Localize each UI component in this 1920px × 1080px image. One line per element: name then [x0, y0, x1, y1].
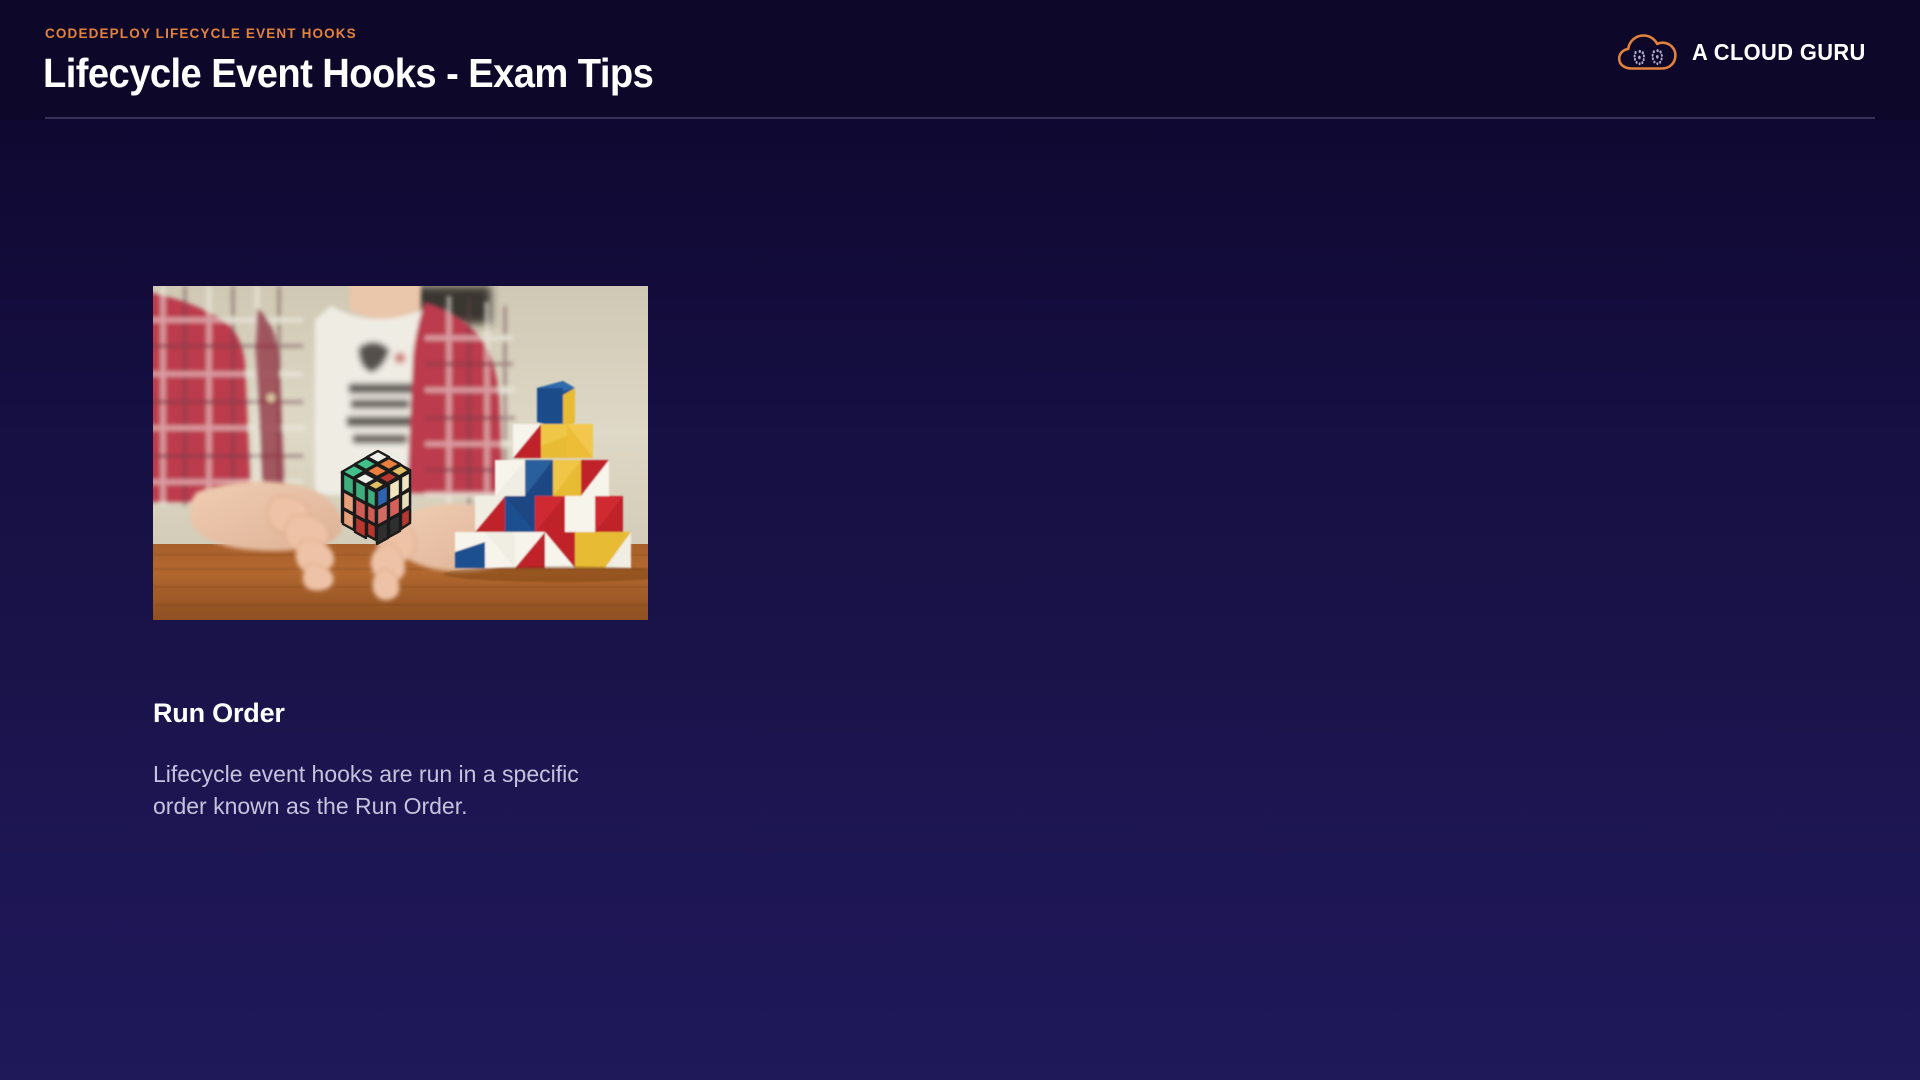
- slide-header: CODEDEPLOY LIFECYCLE EVENT HOOKS Lifecyc…: [0, 0, 1920, 120]
- cloud-icon: [1617, 33, 1679, 71]
- header-inner: CODEDEPLOY LIFECYCLE EVENT HOOKS Lifecyc…: [0, 0, 1920, 120]
- slide-root: CODEDEPLOY LIFECYCLE EVENT HOOKS Lifecyc…: [0, 0, 1920, 1080]
- brand-name: A CLOUD GURU: [1692, 39, 1866, 66]
- content-card: Run Order Lifecycle event hooks are run …: [153, 286, 648, 822]
- card-body-text: Lifecycle event hooks are run in a speci…: [153, 759, 603, 822]
- card-image: [153, 286, 648, 620]
- header-eyebrow: CODEDEPLOY LIFECYCLE EVENT HOOKS: [45, 26, 357, 41]
- brand-logo: A CLOUD GURU: [1617, 33, 1875, 71]
- card-heading: Run Order: [153, 698, 648, 729]
- page-title: Lifecycle Event Hooks - Exam Tips: [43, 50, 653, 97]
- header-divider: [45, 117, 1875, 119]
